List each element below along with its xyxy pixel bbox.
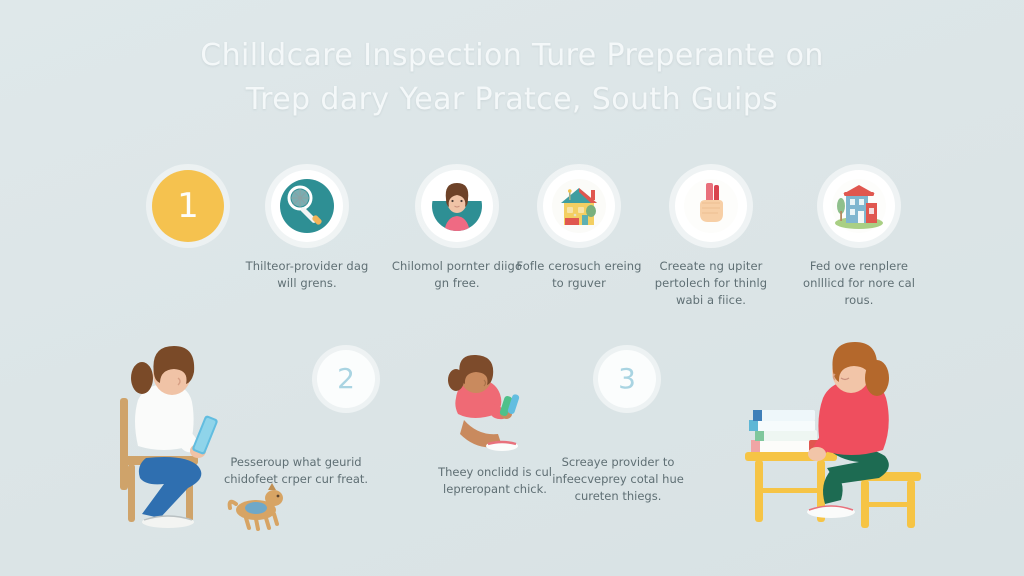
- step-two-badge: 2: [317, 350, 375, 408]
- hand-holding-card-disc: [675, 170, 747, 242]
- magnifying-glass-icon: [276, 175, 338, 237]
- yellow-house-icon: [548, 175, 610, 237]
- page-title: Chilldcare Inspection Ture Preperante on…: [0, 34, 1024, 122]
- step-three-caption: Screaye provider to infeecveprey cotal h…: [533, 454, 703, 505]
- yellow-house-disc: [543, 170, 615, 242]
- icon-cell-nursery: Fed ove renplere onlllicd for nore cal r…: [784, 170, 934, 309]
- icon-strip: 1 Thilteor-provider dag will grens.: [0, 170, 1024, 320]
- icon-cell-inspection: Thilteor-provider dag will grens.: [232, 170, 382, 292]
- icon-caption-records: Creeate ng upiter pertolech for thinlg w…: [636, 258, 786, 309]
- step-number-one-badge: 1: [152, 170, 224, 242]
- woman-reading-on-chair-illustration: [106, 338, 306, 538]
- steps-row: 2 Pesseroup what geurid chidofeet crper …: [0, 332, 1024, 576]
- step-two-caption: Pesseroup what geurid chidofeet crper cu…: [211, 454, 381, 488]
- infographic-canvas: Chilldcare Inspection Ture Preperante on…: [0, 0, 1024, 576]
- step-three-number: 3: [618, 365, 636, 393]
- parent-avatar-disc: [421, 170, 493, 242]
- icon-cell-records: Creeate ng upiter pertolech for thinlg w…: [636, 170, 786, 309]
- icon-cell-setting: Fofle cerosuch ereing to rguver: [504, 170, 654, 292]
- step-three-badge: 3: [598, 350, 656, 408]
- title-line-1: Chilldcare Inspection Ture Preperante on: [0, 34, 1024, 78]
- blue-nursery-building-icon: [828, 175, 890, 237]
- step-one-number: 1: [177, 189, 199, 223]
- icon-caption-setting: Fofle cerosuch ereing to rguver: [504, 258, 654, 292]
- hand-holding-card-icon: [680, 175, 742, 237]
- magnifying-glass-disc: [271, 170, 343, 242]
- icon-caption-inspection: Thilteor-provider dag will grens.: [232, 258, 382, 292]
- step-two-number: 2: [337, 365, 355, 393]
- blue-nursery-building-disc: [823, 170, 895, 242]
- title-line-2: Trep dary Year Pratce, South Guips: [0, 78, 1024, 122]
- woman-with-books-illustration: [735, 336, 935, 541]
- parent-avatar-icon: [426, 175, 488, 237]
- icon-caption-nursery: Fed ove renplere onlllicd for nore cal r…: [784, 258, 934, 309]
- child-playing-illustration: [440, 354, 550, 464]
